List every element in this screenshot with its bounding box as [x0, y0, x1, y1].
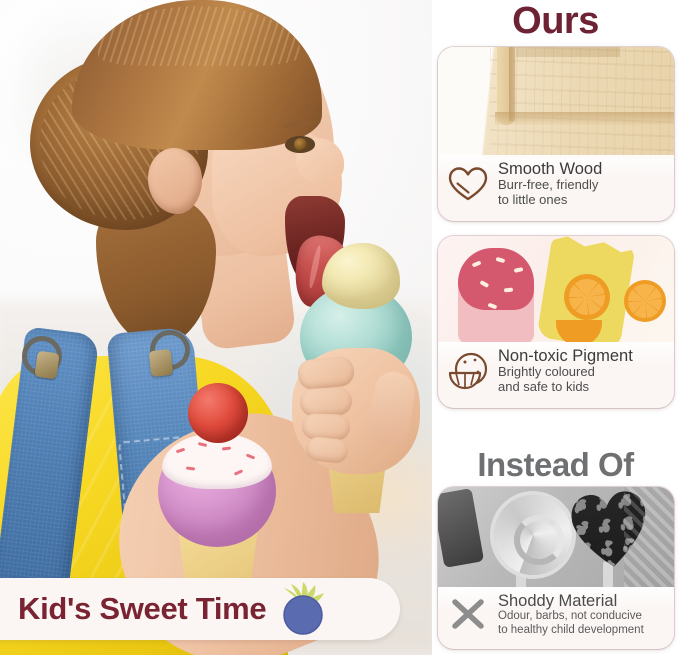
- card-media-wood-photo: [438, 47, 674, 159]
- wood-shelf-line: [495, 112, 674, 125]
- card-caption: Non-toxic Pigment Brightly coloured and …: [438, 342, 674, 402]
- card-media-shoddy-photo: [438, 487, 674, 587]
- card-subtitle-line-2: to healthy child development: [498, 624, 644, 637]
- card-title: Non-toxic Pigment: [498, 347, 633, 365]
- lifestyle-photo: [0, 0, 432, 655]
- overall-buckle-left: [34, 351, 59, 380]
- grey-cloth-background: [624, 487, 674, 587]
- card-subtitle-line-2: and safe to kids: [498, 380, 633, 395]
- card-subtitle-line-1: Brightly coloured: [498, 365, 633, 380]
- blueberry-icon: [274, 582, 328, 636]
- card-caption: Shoddy Material Odour, barbs, not conduc…: [438, 587, 674, 644]
- instead-of-heading: Instead Of: [432, 448, 679, 481]
- toy-cherry-red: [188, 383, 248, 443]
- card-caption-text: Non-toxic Pigment Brightly coloured and …: [498, 347, 633, 395]
- overall-buckle-right: [149, 349, 174, 377]
- wood-top-edge: [516, 47, 620, 57]
- card-caption: Smooth Wood Burr-free, friendly to littl…: [438, 155, 674, 215]
- card-caption-text: Smooth Wood Burr-free, friendly to littl…: [498, 160, 602, 208]
- card-caption-text: Shoddy Material Odour, barbs, not conduc…: [498, 592, 644, 637]
- feature-card-non-toxic-pigment[interactable]: Non-toxic Pigment Brightly coloured and …: [438, 236, 674, 408]
- child-eye: [285, 136, 315, 153]
- feature-card-smooth-wood[interactable]: Smooth Wood Burr-free, friendly to littl…: [438, 47, 674, 221]
- grey-swirl-lollipop: [494, 495, 572, 575]
- x-mark-icon: [447, 593, 489, 635]
- wood-inner-edge: [509, 47, 517, 121]
- child-finger: [302, 413, 351, 441]
- child-finger: [299, 387, 352, 418]
- orange-slice-icon: [447, 350, 489, 392]
- card-media-popsicles-photo: [438, 236, 674, 342]
- headline-text: Kid's Sweet Time: [18, 591, 266, 627]
- card-subtitle-line-1: Burr-free, friendly: [498, 178, 602, 193]
- product-feature-panel: Kid's Sweet Time Ours: [0, 0, 679, 655]
- card-title: Shoddy Material: [498, 592, 644, 610]
- toy-topper-cream: [322, 243, 400, 309]
- heart-icon: [447, 163, 489, 205]
- orange-slice-graphic: [564, 274, 610, 320]
- card-title: Smooth Wood: [498, 160, 602, 178]
- wood-texture: [438, 47, 674, 159]
- feature-card-shoddy-material[interactable]: Shoddy Material Odour, barbs, not conduc…: [438, 487, 674, 649]
- headline-banner: Kid's Sweet Time: [0, 578, 400, 640]
- toy-popsicle-pink: [458, 248, 534, 342]
- ours-heading: Ours: [432, 2, 679, 40]
- comparison-column: Ours Smooth Wood Burr-free,: [432, 0, 679, 655]
- child-ear: [148, 148, 202, 214]
- orange-slice-graphic: [624, 280, 666, 322]
- orange-wedge-graphic: [556, 320, 602, 342]
- card-subtitle-line-1: Odour, barbs, not conducive: [498, 610, 644, 623]
- card-subtitle-line-2: to little ones: [498, 193, 602, 208]
